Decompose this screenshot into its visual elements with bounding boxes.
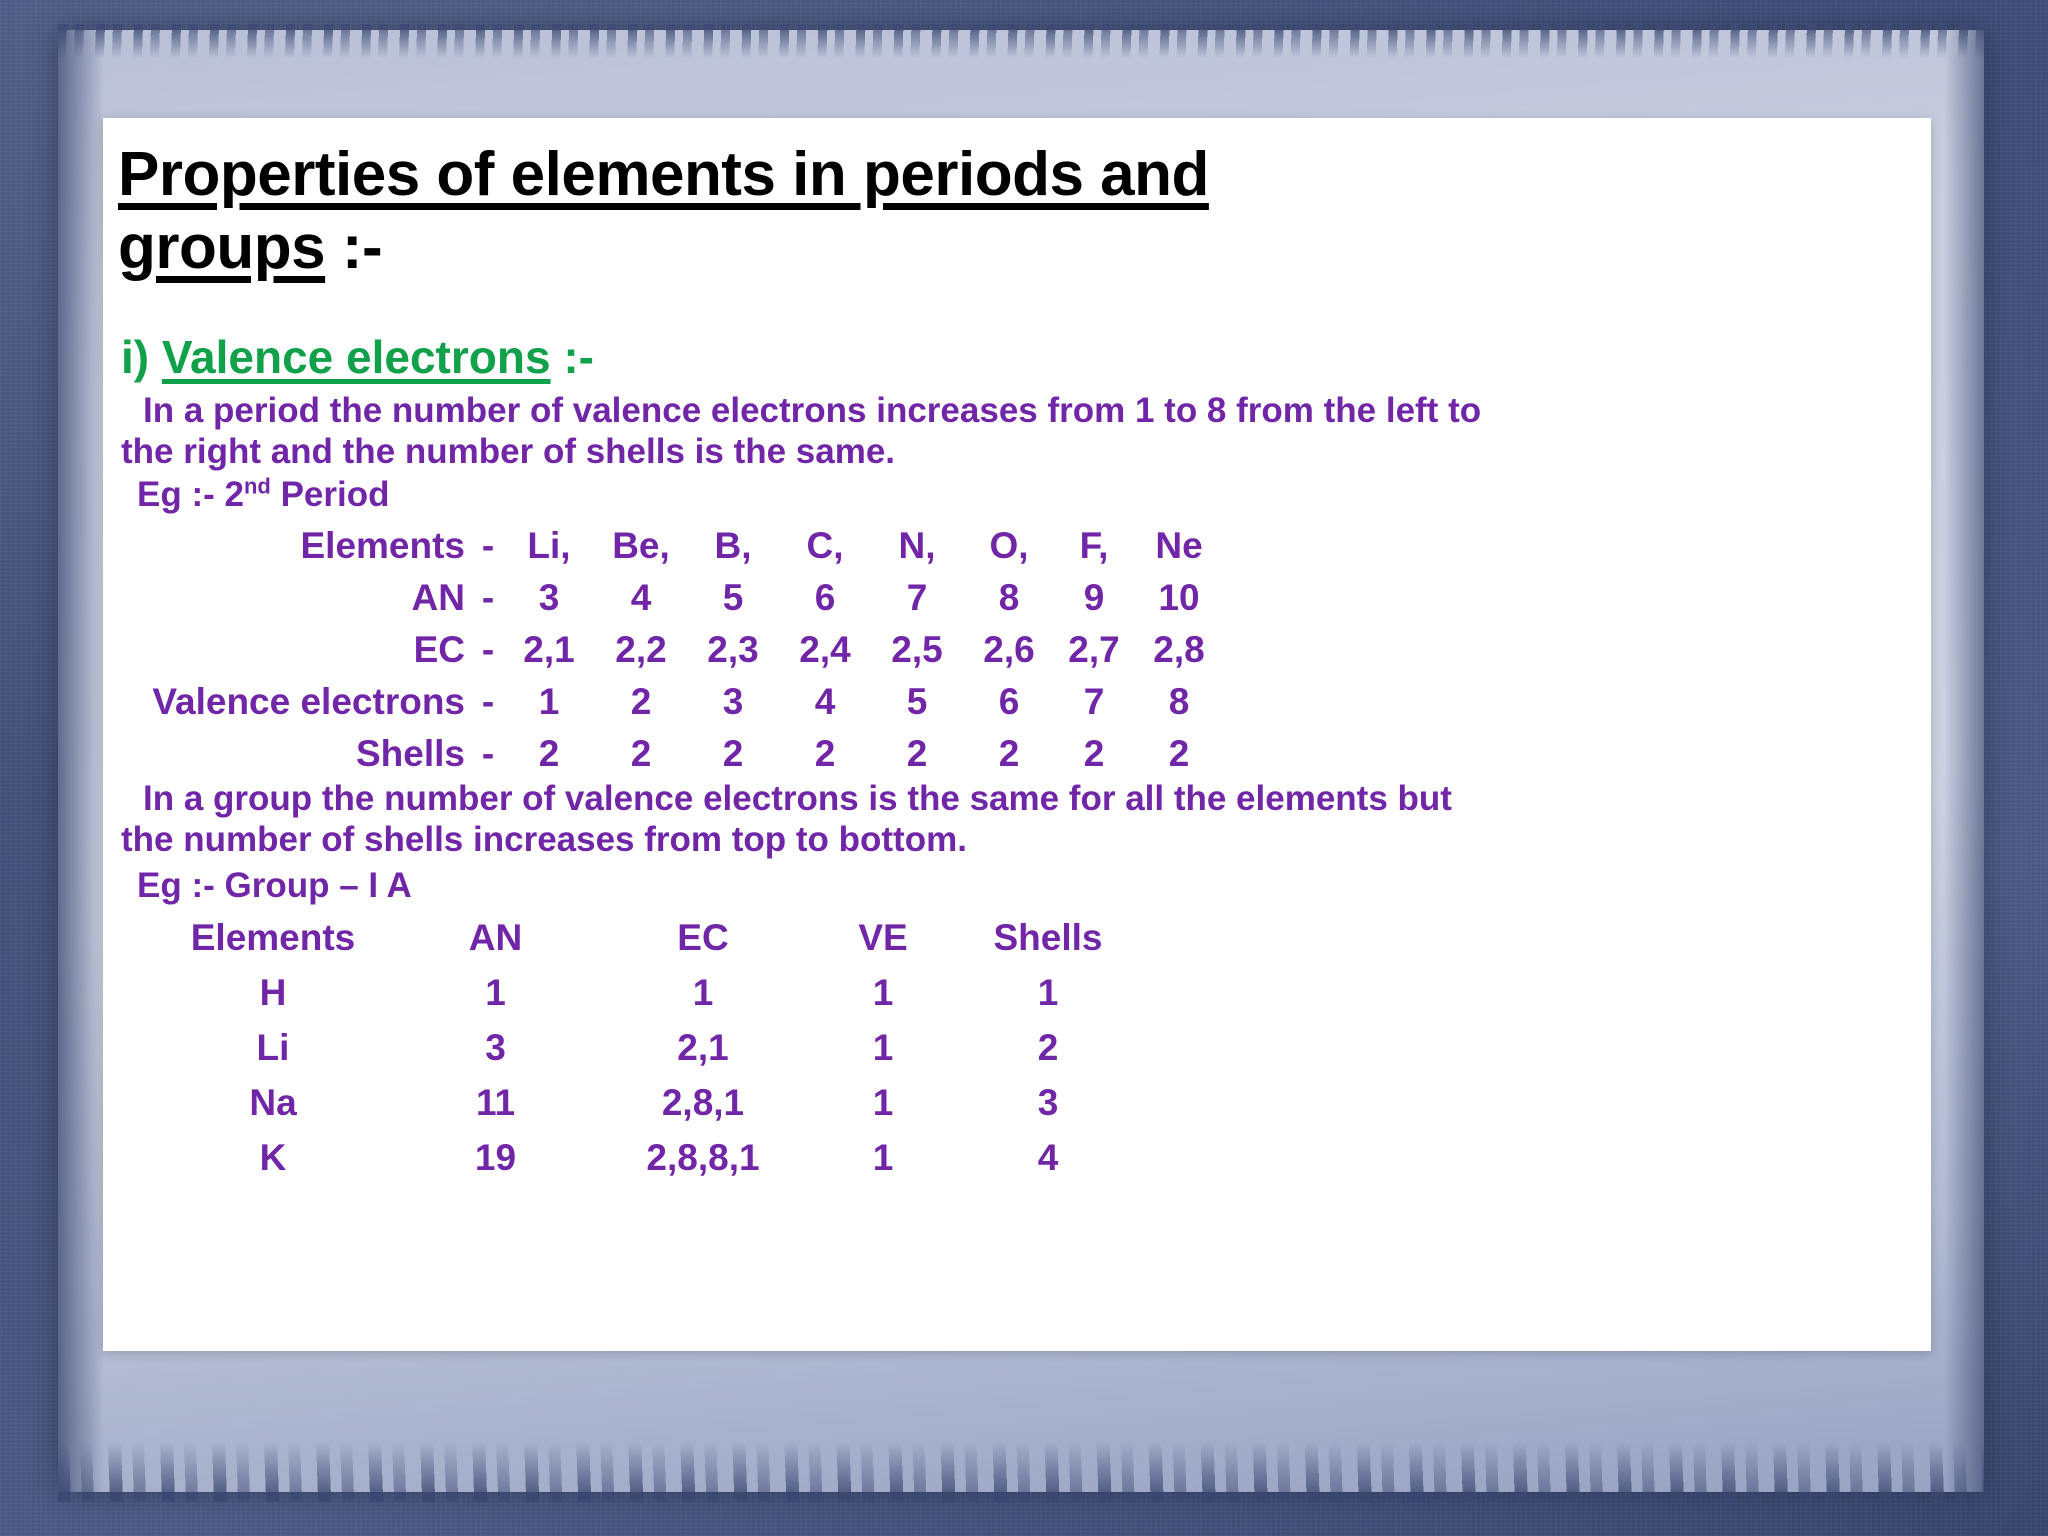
period-cell-shells-3: 2	[779, 728, 871, 780]
title-line-1: Properties of elements in periods and	[118, 140, 1908, 211]
group-cell-ve: 1	[818, 1075, 948, 1130]
group-cell-an: 1	[403, 965, 588, 1020]
period-cell-shells-2: 2	[687, 728, 779, 780]
period-cell-an-7: 10	[1133, 572, 1225, 624]
example-label-second-period: Eg :- 2nd Period	[137, 475, 389, 515]
group-cell-an: 19	[403, 1130, 588, 1185]
content-card: Properties of elements in periods and gr…	[103, 118, 1931, 1351]
example-label-suffix: Period	[271, 475, 390, 514]
period-cell-an-4: 7	[871, 572, 963, 624]
group-cell-an: 11	[403, 1075, 588, 1130]
period-cell-element-4: N,	[871, 520, 963, 572]
period-cell-an-0: 3	[503, 572, 595, 624]
period-cell-shells-7: 2	[1133, 728, 1225, 780]
period-cell-ec-4: 2,5	[871, 624, 963, 676]
period-cell-an-2: 5	[687, 572, 779, 624]
period-cell-ve-5: 6	[963, 676, 1055, 728]
period-row-label-elements: Elements	[103, 520, 473, 572]
period-cell-ve-0: 1	[503, 676, 595, 728]
example-label-superscript: nd	[244, 473, 271, 498]
period-cell-element-0: Li,	[503, 520, 595, 572]
period-row-dash-an: -	[473, 572, 503, 624]
title-line-2-tail: :-	[325, 213, 382, 282]
example-label-group-ia: Eg :- Group – I A	[137, 866, 412, 906]
period-cell-element-2: B,	[687, 520, 779, 572]
group-cell-ve: 1	[818, 1020, 948, 1075]
group-cell-ec: 2,8,8,1	[588, 1130, 818, 1185]
period-cell-element-1: Be,	[595, 520, 687, 572]
period-cell-an-6: 9	[1055, 572, 1133, 624]
title-line-1-text: Properties of elements in periods and	[118, 140, 1209, 209]
period-row-label-valence-electrons: Valence electrons	[103, 676, 473, 728]
paragraph-group-rule-line-1: In a group the number of valence electro…	[121, 778, 1916, 819]
section-heading-valence-electrons: i) Valence electrons :-	[121, 330, 594, 384]
title-line-2: groups :-	[118, 213, 1908, 284]
period-cell-element-7: Ne	[1133, 520, 1225, 572]
group-cell-ve: 1	[818, 1130, 948, 1185]
period-cell-ec-3: 2,4	[779, 624, 871, 676]
period-cell-element-3: C,	[779, 520, 871, 572]
period-cell-shells-5: 2	[963, 728, 1055, 780]
slide-background: Properties of elements in periods and gr…	[0, 0, 2048, 1536]
paragraph-period-rule-line-1: In a period the number of valence electr…	[121, 390, 1916, 431]
period-row-dash-shells: -	[473, 728, 503, 780]
period-cell-element-5: O,	[963, 520, 1055, 572]
group-header-shells: Shells	[948, 910, 1148, 965]
period-cell-ve-3: 4	[779, 676, 871, 728]
period-row-dash-elements: -	[473, 520, 503, 572]
period-row-dash-ve: -	[473, 676, 503, 728]
period-row-label-shells: Shells	[103, 728, 473, 780]
period-cell-ve-2: 3	[687, 676, 779, 728]
period-cell-ve-7: 8	[1133, 676, 1225, 728]
group-cell-shells: 3	[948, 1075, 1148, 1130]
title-line-2-text: groups	[118, 213, 325, 282]
group-cell-an: 3	[403, 1020, 588, 1075]
group-cell-element: Li	[143, 1020, 403, 1075]
group-header-elements: Elements	[143, 910, 403, 965]
group-cell-element: Na	[143, 1075, 403, 1130]
group-table: Elements AN EC VE Shells H 1 1 1 1 Li 3 …	[143, 910, 1148, 1185]
group-cell-ec: 1	[588, 965, 818, 1020]
section-title: Valence electrons	[162, 331, 551, 383]
paragraph-group-rule: In a group the number of valence electro…	[121, 778, 1916, 861]
group-cell-shells: 1	[948, 965, 1148, 1020]
group-cell-shells: 2	[948, 1020, 1148, 1075]
period-row-label-ec: EC	[103, 624, 473, 676]
example-label-prefix: Eg :- 2	[137, 475, 244, 514]
group-cell-ec: 2,1	[588, 1020, 818, 1075]
section-number: i)	[121, 331, 149, 383]
period-table: Elements - Li, Be, B, C, N, O, F, Ne AN …	[103, 520, 1203, 780]
period-cell-shells-1: 2	[595, 728, 687, 780]
paragraph-period-rule: In a period the number of valence electr…	[121, 390, 1916, 473]
period-cell-element-6: F,	[1055, 520, 1133, 572]
group-cell-ve: 1	[818, 965, 948, 1020]
period-cell-ec-1: 2,2	[595, 624, 687, 676]
period-cell-ve-6: 7	[1055, 676, 1133, 728]
period-cell-ec-5: 2,6	[963, 624, 1055, 676]
group-cell-element: K	[143, 1130, 403, 1185]
page-title: Properties of elements in periods and gr…	[118, 140, 1908, 283]
group-header-ve: VE	[818, 910, 948, 965]
paragraph-period-rule-line-2: the right and the number of shells is th…	[121, 431, 1916, 472]
period-cell-ve-1: 2	[595, 676, 687, 728]
period-cell-an-5: 8	[963, 572, 1055, 624]
period-row-dash-ec: -	[473, 624, 503, 676]
period-cell-ec-6: 2,7	[1055, 624, 1133, 676]
section-tail: :-	[551, 331, 594, 383]
period-cell-ec-0: 2,1	[503, 624, 595, 676]
period-cell-ve-4: 5	[871, 676, 963, 728]
group-header-ec: EC	[588, 910, 818, 965]
group-cell-element: H	[143, 965, 403, 1020]
period-cell-shells-6: 2	[1055, 728, 1133, 780]
period-cell-ec-7: 2,8	[1133, 624, 1225, 676]
period-row-label-an: AN	[103, 572, 473, 624]
period-cell-ec-2: 2,3	[687, 624, 779, 676]
group-header-an: AN	[403, 910, 588, 965]
period-cell-shells-0: 2	[503, 728, 595, 780]
period-cell-shells-4: 2	[871, 728, 963, 780]
period-cell-an-3: 6	[779, 572, 871, 624]
group-cell-ec: 2,8,1	[588, 1075, 818, 1130]
paragraph-group-rule-line-2: the number of shells increases from top …	[121, 819, 1916, 860]
period-cell-an-1: 4	[595, 572, 687, 624]
group-cell-shells: 4	[948, 1130, 1148, 1185]
